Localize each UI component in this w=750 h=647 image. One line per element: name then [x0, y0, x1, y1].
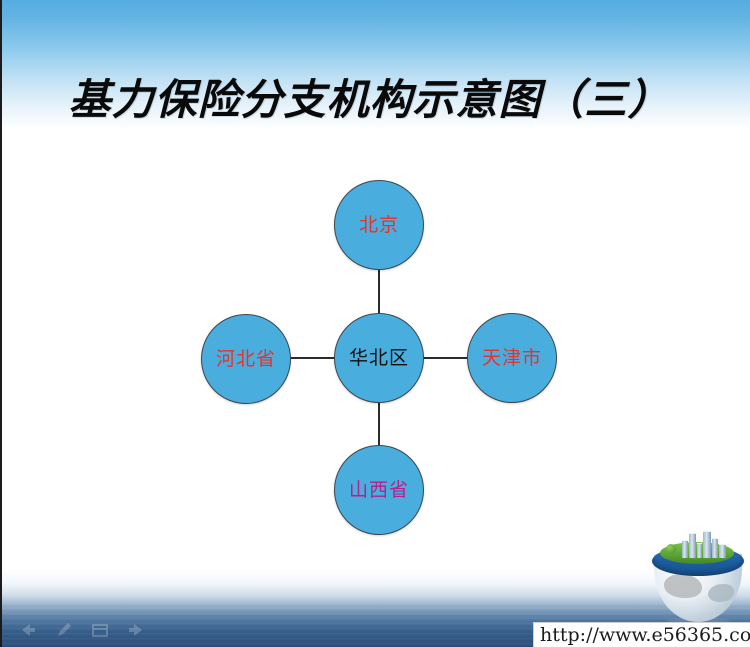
back-arrow-icon[interactable]: [18, 621, 38, 639]
node-beijing[interactable]: 北京: [334, 180, 424, 270]
node-beijing-label: 北京: [359, 216, 399, 235]
building: [682, 540, 688, 558]
forward-arrow-icon[interactable]: [126, 621, 146, 639]
building: [712, 538, 718, 558]
building: [719, 544, 726, 558]
watermark-url-box: http://www.e56365.com: [533, 622, 750, 647]
node-hebei[interactable]: 河北省: [201, 314, 291, 404]
globe-tree-icon: [666, 544, 676, 554]
node-huabei-region-label: 华北区: [349, 349, 409, 368]
node-tianjin-label: 天津市: [482, 349, 542, 368]
building: [697, 543, 702, 558]
node-shanxi[interactable]: 山西省: [334, 445, 424, 535]
edge-center-bottom: [378, 402, 380, 448]
slide-title: 基力保险分支机构示意图（三）: [2, 66, 737, 127]
node-huabei-region[interactable]: 华北区: [334, 313, 424, 403]
menu-icon[interactable]: [90, 621, 110, 639]
edge-center-top: [378, 268, 380, 314]
edge-center-right: [423, 357, 469, 359]
node-shanxi-label: 山西省: [349, 481, 409, 500]
building: [689, 533, 696, 558]
node-hebei-label: 河北省: [216, 350, 276, 369]
watermark-url-text: http://www.e56365.com: [534, 624, 750, 646]
globe-city-skyline: [680, 532, 728, 558]
node-tianjin[interactable]: 天津市: [467, 313, 557, 403]
earth-city-globe-icon: [650, 532, 746, 624]
pen-icon[interactable]: [54, 621, 74, 639]
edge-center-left: [290, 357, 336, 359]
presentation-slide: 基力保险分支机构示意图（三） 北京 河北省 华北区 天津市 山西省: [0, 0, 750, 647]
slideshow-nav-controls[interactable]: [18, 621, 146, 639]
building: [703, 531, 711, 558]
